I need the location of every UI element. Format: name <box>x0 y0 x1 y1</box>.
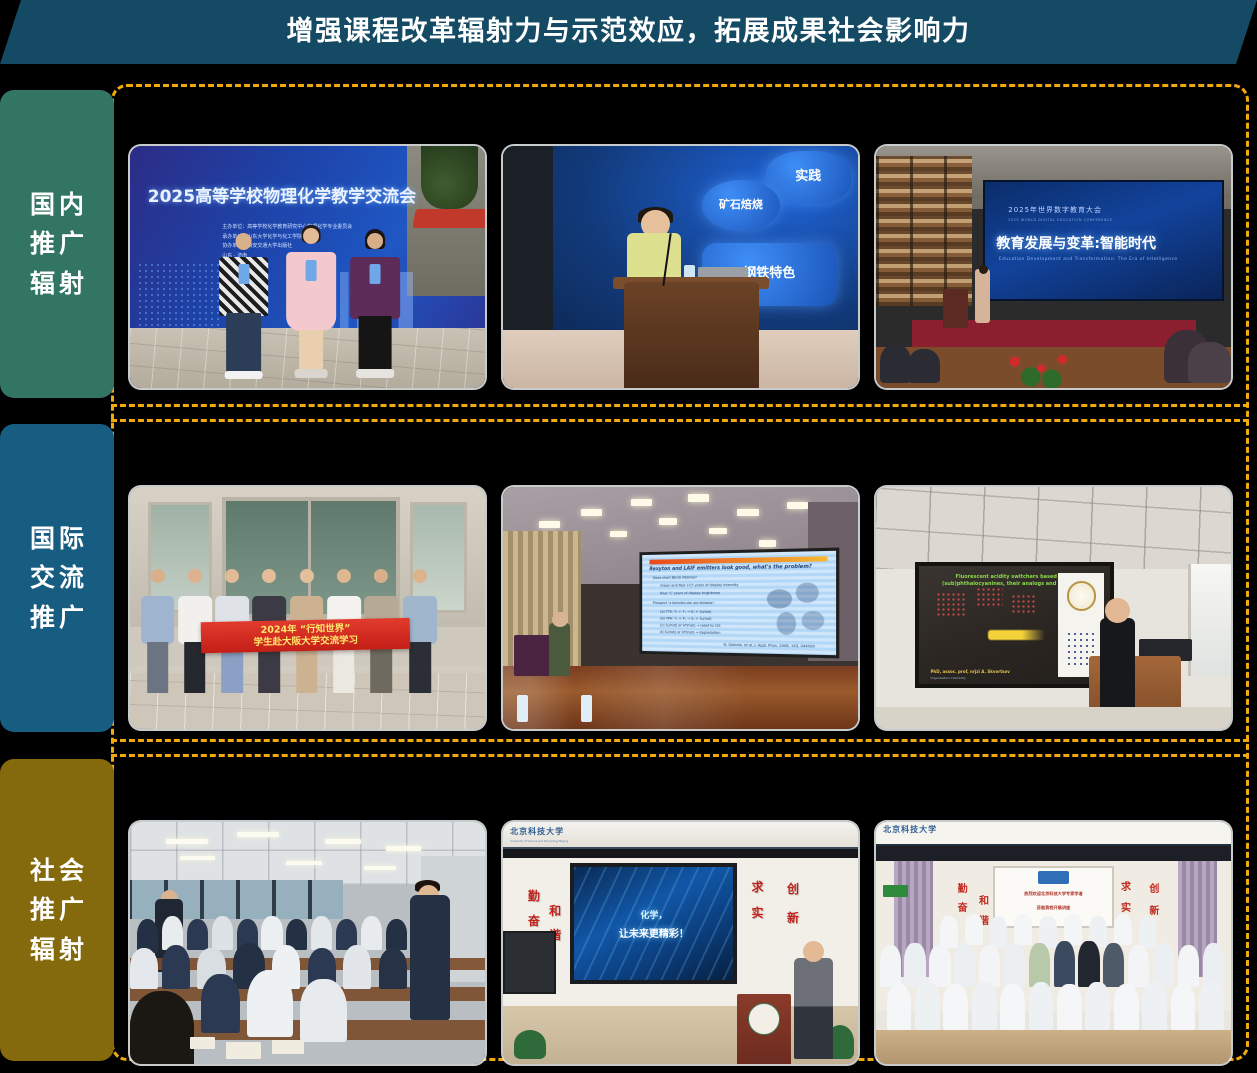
slide-bullet: Does short BEUS lifetime? <box>653 575 697 579</box>
university-name: 北京科技大学 <box>510 826 564 837</box>
banner-main-text: 2025高等学校物理化学教学交流会 <box>148 182 416 207</box>
photo-osaka-exchange-group[interactable]: 2024年 “行知世界” 学生赴大阪大学交流学习 <box>130 487 485 729</box>
row-divider-2-bottom <box>111 739 1249 742</box>
tab-line: 推广 <box>26 896 88 924</box>
slide-bullet: (b) TPA: T₁ + P₁ → S₁ + S₀(hot) <box>660 617 711 621</box>
photo-chemistry-future-lecture[interactable]: 北京科技大学 University of Science and Technol… <box>503 822 858 1064</box>
screen-line-2: 莅临我校开展讲座 <box>1004 905 1102 911</box>
screen-line-1: 热烈欢迎北京科技大学专家学者 <box>1004 891 1102 897</box>
wall-character: 求 <box>1121 878 1131 893</box>
page-title: 增强课程改革辐射力与示范效应，拓展成果社会影响力 <box>287 18 971 47</box>
wall-character: 勤 <box>958 880 968 895</box>
header-banner: 增强课程改革辐射力与示范效应，拓展成果社会影响力 <box>0 0 1257 64</box>
slide-bullet: Green and Red +CT years of display inten… <box>660 583 738 588</box>
exchange-banner: 2024年 “行知世界” 学生赴大阪大学交流学习 <box>201 618 411 654</box>
slide-title: Rexyton and LAIF emitters look good, wha… <box>650 564 813 573</box>
tab-line: 国际 <box>26 525 88 553</box>
photo-conference-banner-group[interactable]: 2025高等学校物理化学教学交流会 主办单位：高等学校化学教育研究中心物理化学专… <box>130 146 485 388</box>
screen-title-en: 2025 WORLD DIGITAL EDUCATION CONFERENCE <box>1008 218 1112 222</box>
slide-bullet: Blue 'C' years of display brightness <box>660 591 720 595</box>
photo-row-social: 北京科技大学 University of Science and Technol… <box>130 822 1231 1064</box>
category-tab-domestic[interactable]: 国内 推广 辐射 <box>0 90 114 398</box>
tab-line: 辐射 <box>26 936 88 964</box>
tab-line: 推广 <box>26 230 88 258</box>
photo-library-digital-education-conference[interactable]: 2025年世界数字教育大会 2025 WORLD DIGITAL EDUCATI… <box>876 146 1231 388</box>
slide-bubble-1: 实践 <box>766 151 851 204</box>
banner-line-2: 学生赴大阪大学交流学习 <box>253 635 358 649</box>
tab-line: 推广 <box>26 604 88 632</box>
wall-character: 新 <box>1149 902 1159 917</box>
slide-root: 增强课程改革辐射力与示范效应，拓展成果社会影响力 国内 推广 辐射 国际 交流 … <box>0 0 1257 1073</box>
tab-line: 社会 <box>26 857 88 885</box>
tab-line: 交流 <box>26 564 88 592</box>
wall-character: 奋 <box>528 912 540 929</box>
photo-welcome-experts-group[interactable]: 北京科技大学 热烈欢迎北京科技大学专家学者 莅临我校开展讲座 勤 奋 和 谐 求… <box>876 822 1231 1064</box>
slide-bullet: Prospect 'a bimolecular annihilation' <box>653 601 715 605</box>
row-divider-1-bottom <box>111 404 1249 407</box>
university-name-en: University of Science and Technology Bei… <box>510 840 568 843</box>
university-name: 北京科技大学 <box>883 824 937 835</box>
screen-theme-en: Education Development and Transformation… <box>999 257 1178 262</box>
photo-classroom-students-lecture[interactable] <box>130 822 485 1064</box>
wall-character: 勤 <box>528 887 540 904</box>
person-figure <box>219 233 269 373</box>
photo-presenter-projector-screen[interactable]: Fluorescent acidity switchers based on (… <box>876 487 1231 729</box>
wall-character: 和 <box>549 902 561 919</box>
screen-line-2: 让未来更精彩！ <box>619 925 689 940</box>
row-divider-3-top <box>111 754 1249 757</box>
slide-reference: N. Giebink, et al, J. Appl. Phys. 2008, … <box>724 643 815 649</box>
screen-theme-cn: 教育发展与变革:智能时代 <box>996 233 1156 253</box>
row-divider-2-top <box>111 419 1249 422</box>
slide-bullet: (c) S₁(hot) or H*(hot) → relief to CIS <box>660 624 720 629</box>
wall-character: 和 <box>979 892 989 907</box>
slide-author: PhD, assoc. prof, nrjzi A. Skvortsov <box>930 669 1009 674</box>
photo-lecture-hall-english-slide[interactable]: Rexyton and LAIF emitters look good, wha… <box>503 487 858 729</box>
wall-character: 创 <box>1149 880 1159 895</box>
category-tab-social[interactable]: 社会 推广 辐射 <box>0 759 114 1061</box>
wall-character: 实 <box>752 904 764 921</box>
slide-bullet: d) S₁(hot) or H*(hot) → degradation <box>660 630 720 635</box>
slide-bullet: (a) TTA: T₁ + T₁ → S₁ + S₀(hot) <box>660 610 711 614</box>
person-figure <box>350 233 400 373</box>
photo-female-speaker-podium[interactable]: 实践 矿石焙烧 钢铁特色 <box>503 146 858 388</box>
led-screen: 化学， 让未来更精彩！ <box>570 863 737 984</box>
category-tab-international[interactable]: 国际 交流 推广 <box>0 424 114 732</box>
wall-character: 求 <box>752 878 764 895</box>
screen-title-cn: 2025年世界数字教育大会 <box>1008 205 1102 215</box>
wall-character: 新 <box>787 909 799 926</box>
wall-character: 实 <box>1121 899 1131 914</box>
slide-bubble-2: 矿石焙烧 <box>702 180 780 231</box>
person-figure <box>286 228 336 373</box>
slide-organisation: Organisation Chemistry <box>930 676 965 680</box>
photo-row-domestic: 2025高等学校物理化学教学交流会 主办单位：高等学校化学教育研究中心物理化学专… <box>130 146 1231 388</box>
wall-character: 创 <box>787 880 799 897</box>
screen-line-1: 化学， <box>640 908 667 921</box>
tab-line: 辐射 <box>26 270 88 298</box>
wall-character: 奋 <box>958 899 968 914</box>
tab-line: 国内 <box>26 191 88 219</box>
photo-row-international: 2024年 “行知世界” 学生赴大阪大学交流学习 <box>130 487 1231 729</box>
